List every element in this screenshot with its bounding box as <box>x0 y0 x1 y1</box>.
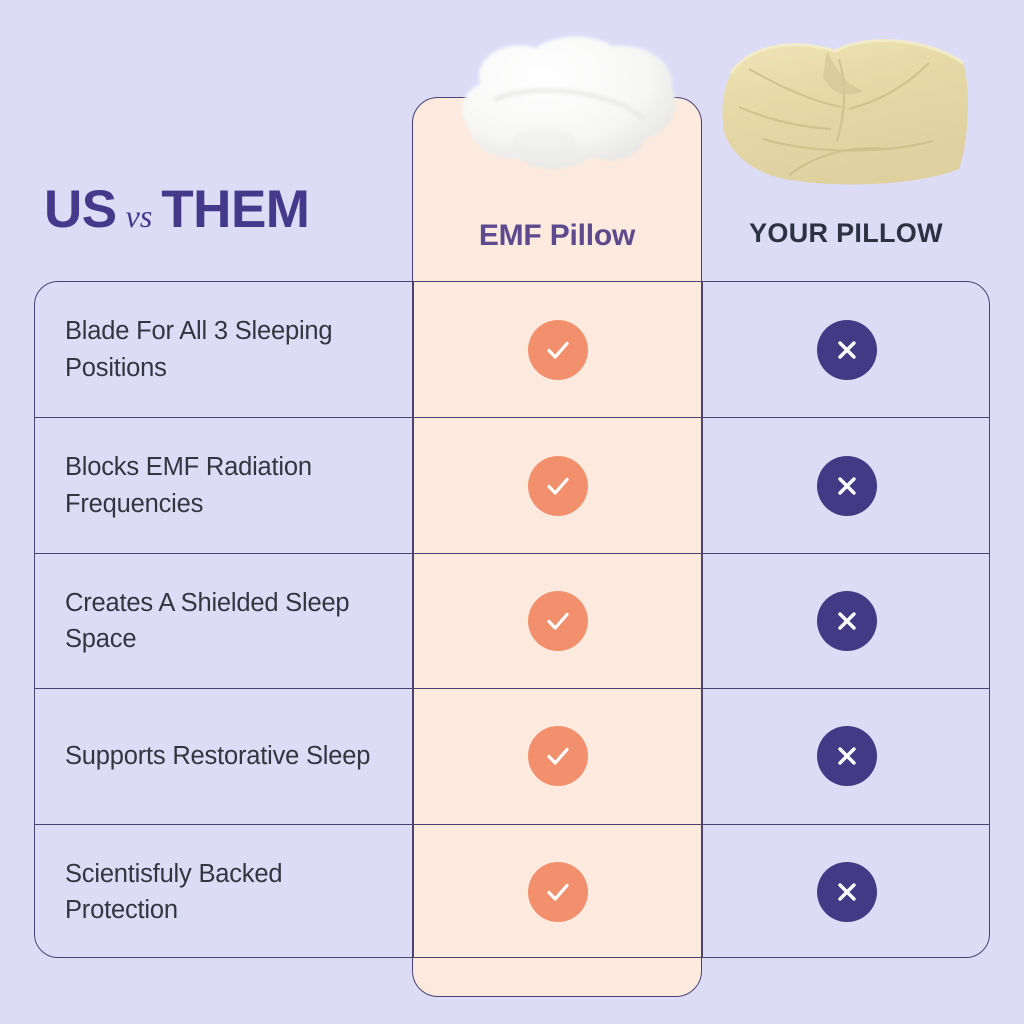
table-row: Supports Restorative Sleep <box>35 688 989 823</box>
column-header-emf-pillow: EMF Pillow <box>412 219 702 252</box>
feature-label: Scientisfuly Backed Protection <box>35 856 413 928</box>
emf-pillow-cell <box>413 282 702 417</box>
emf-pillow-image <box>432 26 684 186</box>
cross-icon <box>817 591 877 651</box>
table-row: Blocks EMF Radiation Frequencies <box>35 417 989 552</box>
feature-label: Creates A Shielded Sleep Space <box>35 585 413 657</box>
check-icon <box>528 591 588 651</box>
title-us: US <box>44 180 117 239</box>
check-icon <box>528 726 588 786</box>
comparison-table: Blade For All 3 Sleeping Positions Block… <box>34 281 990 958</box>
table-row: Scientisfuly Backed Protection <box>35 824 989 958</box>
emf-pillow-cell <box>413 554 702 688</box>
emf-pillow-cell <box>413 418 702 552</box>
feature-label: Blocks EMF Radiation Frequencies <box>35 449 413 521</box>
column-header-your-pillow: YOUR PILLOW <box>702 219 990 249</box>
emf-pillow-cell <box>413 825 702 958</box>
your-pillow-cell <box>702 825 990 958</box>
check-icon <box>528 320 588 380</box>
feature-label: Supports Restorative Sleep <box>35 738 413 774</box>
comparison-infographic: USvsTHEM EMF Pillow YOUR PILLOW Blade Fo… <box>0 0 1024 1024</box>
cross-icon <box>817 862 877 922</box>
your-pillow-cell <box>702 282 990 417</box>
your-pillow-image <box>719 29 975 189</box>
cross-icon <box>817 456 877 516</box>
check-icon <box>528 456 588 516</box>
title-vs: vs <box>117 198 162 234</box>
your-pillow-cell <box>702 689 990 823</box>
table-row: Creates A Shielded Sleep Space <box>35 553 989 688</box>
cross-icon <box>817 726 877 786</box>
your-pillow-cell <box>702 554 990 688</box>
title-them: THEM <box>161 180 309 239</box>
check-icon <box>528 862 588 922</box>
emf-pillow-cell <box>413 689 702 823</box>
cross-icon <box>817 320 877 380</box>
feature-label: Blade For All 3 Sleeping Positions <box>35 313 413 385</box>
your-pillow-cell <box>702 418 990 552</box>
table-row: Blade For All 3 Sleeping Positions <box>35 282 989 417</box>
page-title: USvsTHEM <box>44 183 309 236</box>
